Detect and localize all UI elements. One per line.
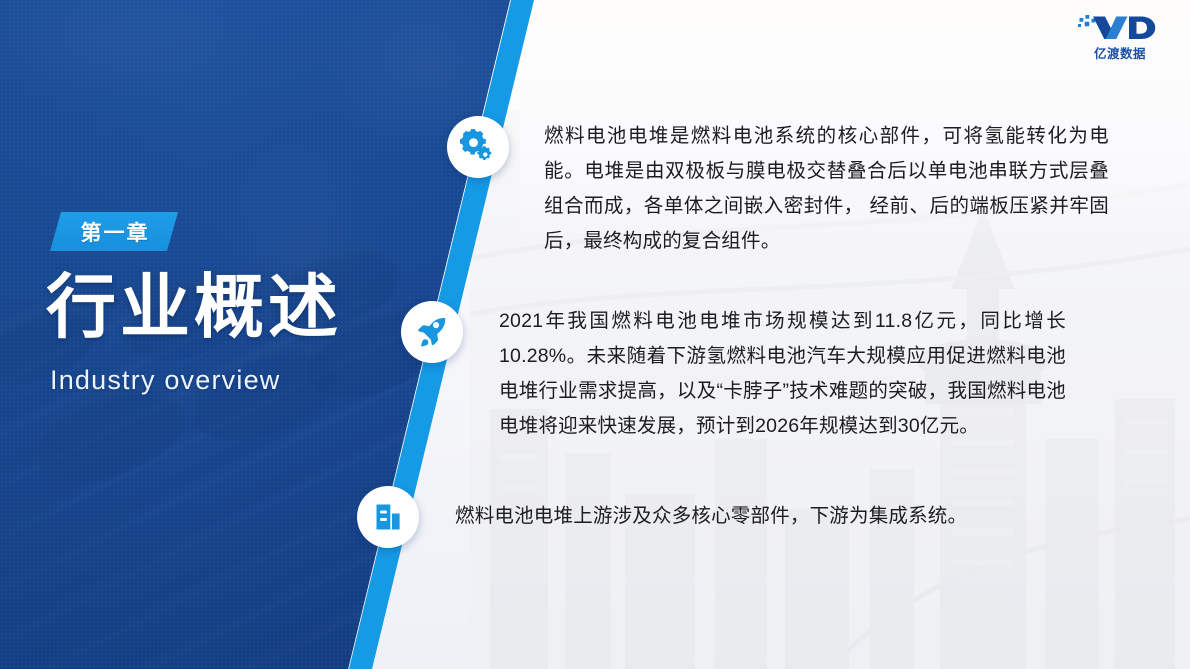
content-block-3: 燃料电池电堆上游涉及众多核心零部件，下游为集成系统。: [357, 486, 1055, 548]
chapter-badge: 第一章: [50, 212, 178, 251]
page-subtitle: Industry overview: [50, 365, 280, 396]
icon-badge-2: [401, 301, 463, 363]
gear-icon: [447, 116, 509, 178]
page-title: 行业概述: [46, 272, 342, 342]
content-block-2: 2021年我国燃料电池电堆市场规模达到11.8亿元，同比增长10.28%。未来随…: [401, 301, 1066, 444]
content-block-1: 燃料电池电堆是燃料电池系统的核心部件，可将氢能转化为电能。电堆是由双极板与膜电极…: [447, 116, 1109, 259]
building-chart-icon: [357, 486, 419, 548]
slide-canvas: 第一章 行业概述 Industry overview 燃料电池电堆是燃料电池系统…: [0, 0, 1190, 669]
brand-logo[interactable]: 亿渡数据: [1068, 12, 1172, 62]
block-3-text: 燃料电池电堆上游涉及众多核心零部件，下游为集成系统。: [455, 499, 1055, 534]
icon-badge-3: [357, 486, 419, 548]
yd-monogram-icon: [1075, 12, 1165, 42]
chapter-badge-label: 第一章: [79, 217, 150, 247]
block-2-text: 2021年我国燃料电池电堆市场规模达到11.8亿元，同比增长10.28%。未来随…: [499, 304, 1066, 444]
rocket-icon: [401, 301, 463, 363]
icon-badge-1: [447, 116, 509, 178]
logo-text: 亿渡数据: [1094, 43, 1146, 62]
block-1-text: 燃料电池电堆是燃料电池系统的核心部件，可将氢能转化为电能。电堆是由双极板与膜电极…: [544, 119, 1109, 259]
